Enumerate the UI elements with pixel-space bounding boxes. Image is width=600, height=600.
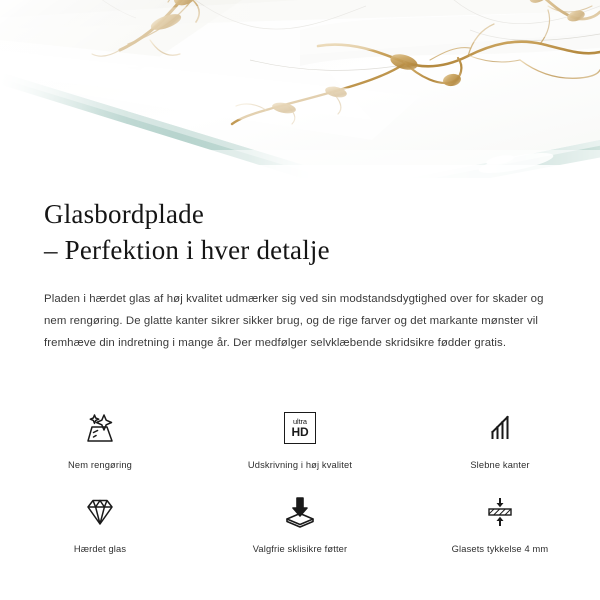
feature-item-anti-slip-feet: Valgfrie sklisikre føtter	[200, 484, 400, 568]
feature-list: Nem rengøring ultra HD Udskrivning i høj…	[0, 400, 600, 568]
product-copy: Glasbordplade – Perfektion i hver detalj…	[0, 196, 600, 354]
ultra-hd-icon: ultra HD	[284, 408, 316, 448]
feature-label: Slebne kanter	[470, 459, 529, 471]
product-description-page: Glasbordplade – Perfektion i hver detalj…	[0, 0, 600, 600]
feature-label: Udskrivning i høj kvalitet	[248, 459, 352, 471]
headline-line-1: Glasbordplade	[44, 199, 204, 229]
page-title: Glasbordplade – Perfektion i hver detalj…	[0, 196, 600, 268]
polished-edge-icon	[480, 408, 520, 448]
feature-item-ultra-hd: ultra HD Udskrivning i høj kvalitet	[200, 400, 400, 484]
feature-item-easy-cleaning: Nem rengøring	[0, 400, 200, 484]
sparkle-cloth-icon	[80, 408, 120, 448]
ultra-hd-badge: ultra HD	[284, 412, 316, 444]
feature-label: Hærdet glas	[74, 543, 126, 555]
feature-item-tempered-glass: Hærdet glas	[0, 484, 200, 568]
glass-table-top-marble-photo	[0, 0, 600, 200]
thickness-icon	[480, 492, 520, 532]
feature-label: Glasets tykkelse 4 mm	[452, 543, 549, 555]
feature-label: Nem rengøring	[68, 459, 132, 471]
feature-item-thickness: Glasets tykkelse 4 mm	[400, 484, 600, 568]
diamond-icon	[80, 492, 120, 532]
ultra-hd-badge-top: ultra	[293, 418, 307, 425]
headline-line-2: – Perfektion i hver detalje	[44, 232, 556, 268]
description-paragraph: Pladen i hærdet glas af høj kvalitet udm…	[0, 288, 600, 354]
feature-label: Valgfrie sklisikre føtter	[253, 543, 348, 555]
product-hero-image	[0, 0, 600, 200]
anti-slip-feet-icon	[280, 492, 320, 532]
ultra-hd-badge-bottom: HD	[292, 426, 309, 438]
feature-item-polished-edges: Slebne kanter	[400, 400, 600, 484]
